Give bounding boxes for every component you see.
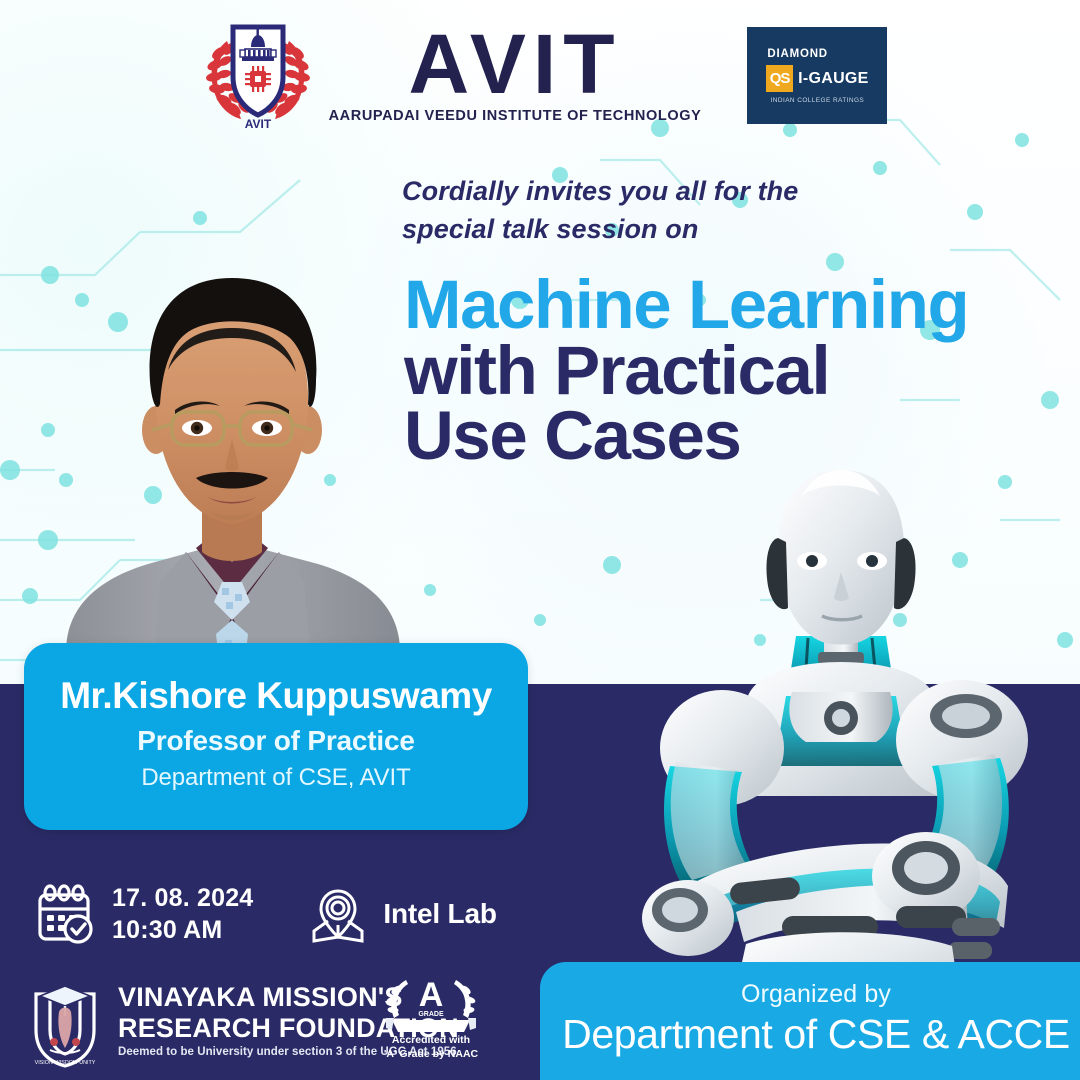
avit-crest-label: AVIT <box>244 117 271 131</box>
naac-caption-line-2: 'A' Grade by NAAC <box>384 1048 478 1062</box>
robot-illustration <box>596 466 1080 1026</box>
badge-footnote: INDIAN COLLEGE RATINGS <box>771 97 865 104</box>
event-time: 10:30 AM <box>112 914 253 947</box>
organizer-name: Department of CSE & ACCE <box>562 1011 1070 1058</box>
naac-caption-line-1: Accredited with <box>384 1034 478 1048</box>
venue-block: Intel Lab <box>309 885 496 943</box>
avit-logo: AVIT AVIT AARUPADAI VEEDU INSTITUTE OF T… <box>193 19 702 131</box>
organized-by-label: Organized by <box>741 980 891 1009</box>
event-details-row: 17. 08. 2024 10:30 AM Intel Lab <box>34 866 554 962</box>
invitation-line-1: Cordially invites you all for the <box>402 172 962 210</box>
avit-crest-icon: AVIT <box>193 19 323 131</box>
speaker-info-card: Mr.Kishore Kuppuswamy Professor of Pract… <box>24 643 528 830</box>
qs-mark-icon: QS <box>766 65 793 92</box>
calendar-icon <box>34 883 96 945</box>
event-title-line-3: Use Cases <box>404 403 1080 469</box>
speaker-role: Professor of Practice <box>137 725 414 757</box>
event-date: 17. 08. 2024 <box>112 882 253 915</box>
qs-igauge-badge: DIAMOND QS I-GAUGE INDIAN COLLEGE RATING… <box>747 27 887 124</box>
event-poster: AVIT AVIT AARUPADAI VEEDU INSTITUTE OF T… <box>0 0 1080 1080</box>
institute-abbr: AVIT <box>408 26 621 103</box>
invitation-line-2: special talk session on <box>402 210 962 248</box>
naac-laurel-icon: A GRADE <box>378 972 484 1034</box>
poster-header: AVIT AVIT AARUPADAI VEEDU INSTITUTE OF T… <box>0 14 1080 136</box>
naac-accreditation-badge: A GRADE Accredited with 'A' Grade by NAA… <box>378 972 484 1072</box>
event-venue: Intel Lab <box>383 898 496 930</box>
speaker-department: Department of CSE, AVIT <box>141 764 410 792</box>
naac-caption: Accredited with 'A' Grade by NAAC <box>384 1034 478 1061</box>
vmrf-crest-icon: VISION·WISDOM·UNITY <box>26 972 104 1068</box>
date-time-block: 17. 08. 2024 10:30 AM <box>34 882 253 947</box>
map-pin-icon <box>309 885 367 943</box>
event-title: Machine Learning with Practical Use Case… <box>404 272 1080 469</box>
event-title-line-1: Machine Learning <box>404 272 1080 338</box>
institute-fullname: AARUPADAI VEEDU INSTITUTE OF TECHNOLOGY <box>329 108 702 124</box>
badge-tier: DIAMOND <box>767 48 828 60</box>
vmrf-motto: VISION·WISDOM·UNITY <box>35 1060 96 1066</box>
organized-by-banner: Organized by Department of CSE & ACCE <box>540 962 1080 1080</box>
naac-grade-label: GRADE <box>418 1011 444 1018</box>
event-title-line-2: with Practical <box>404 338 1080 404</box>
speaker-name: Mr.Kishore Kuppuswamy <box>60 675 492 718</box>
naac-grade-letter: A <box>419 976 444 1014</box>
badge-name: I-GAUGE <box>798 70 869 88</box>
invitation-text: Cordially invites you all for the specia… <box>402 172 962 249</box>
speaker-portrait-photo <box>36 252 428 688</box>
